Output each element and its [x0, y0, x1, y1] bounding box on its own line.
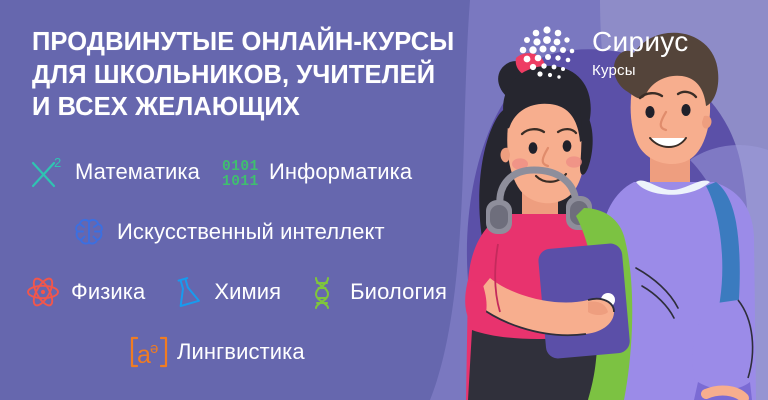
svg-text:a: a [137, 341, 151, 369]
sirius-dot-cluster-logo-icon [516, 22, 578, 84]
subject-item-informatics[interactable]: 0101 1011 Информатика [222, 153, 412, 191]
subject-label: Биология [350, 279, 447, 305]
subject-label: Информатика [269, 159, 412, 185]
atom-icon [24, 273, 62, 311]
svg-text:0101: 0101 [222, 159, 259, 175]
page-title: ПРОДВИНУТЫЕ ОНЛАЙН-КУРСЫ ДЛЯ ШКОЛЬНИКОВ,… [32, 26, 454, 124]
subject-item-physics[interactable]: Физика [24, 273, 145, 311]
logo-subtitle: Курсы [592, 63, 689, 78]
svg-text:1011: 1011 [222, 174, 259, 190]
phonetic-brackets-icon: a ə [130, 333, 168, 371]
subject-label: Математика [75, 159, 200, 185]
subject-item-linguistics[interactable]: a ə Лингвистика [130, 333, 305, 371]
subject-label: Лингвистика [177, 339, 305, 365]
subject-item-chemistry[interactable]: Химия [167, 273, 281, 311]
subject-list: 2 Математика 0101 1011 Информатика [0, 142, 500, 382]
x-squared-icon: 2 [28, 153, 66, 191]
logo-title: Сириус [592, 28, 689, 56]
brain-icon [70, 213, 108, 251]
svg-text:ə: ə [150, 340, 158, 357]
svg-text:2: 2 [54, 155, 61, 170]
subject-item-artificial-intelligence[interactable]: Искусственный интеллект [70, 213, 385, 251]
binary-code-icon: 0101 1011 [222, 153, 260, 191]
subject-item-mathematics[interactable]: 2 Математика [28, 153, 200, 191]
subject-label: Искусственный интеллект [117, 219, 385, 245]
subject-row: Искусственный интеллект [0, 202, 500, 262]
dna-icon [303, 273, 341, 311]
subject-label: Химия [214, 279, 281, 305]
flask-icon [167, 273, 205, 311]
subject-label: Физика [71, 279, 145, 305]
subject-row: 2 Математика 0101 1011 Информатика [0, 142, 500, 202]
subject-row: Физика Химия [0, 262, 500, 322]
subject-item-biology[interactable]: Биология [303, 273, 447, 311]
sirius-logo[interactable]: Сириус Курсы [516, 22, 689, 84]
promo-banner: ПРОДВИНУТЫЕ ОНЛАЙН-КУРСЫ ДЛЯ ШКОЛЬНИКОВ,… [0, 0, 768, 400]
subject-row: a ə Лингвистика [0, 322, 500, 382]
